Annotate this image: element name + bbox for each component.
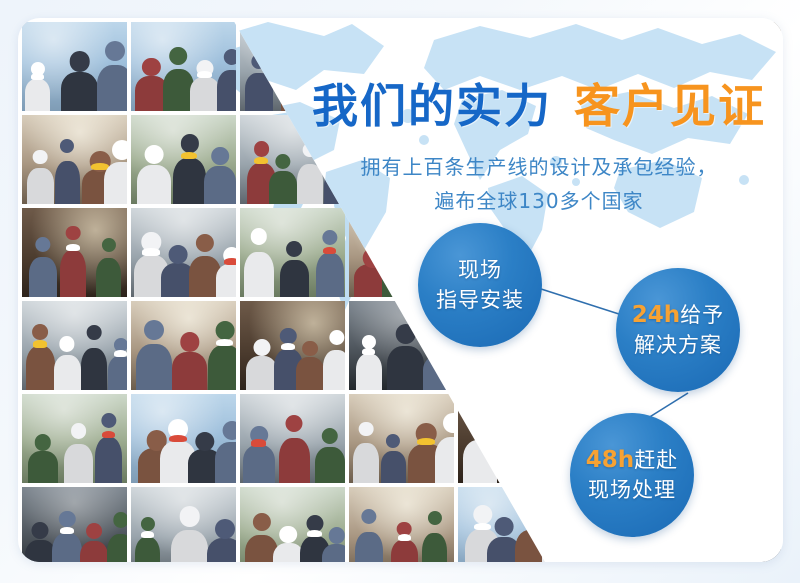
bubble-1-line-2: 指导安装 (436, 285, 524, 315)
hard-hat-icon (66, 244, 79, 251)
photo-people (240, 428, 345, 483)
bubble-3-line-2: 现场处理 (588, 475, 676, 505)
photo-tile (22, 487, 127, 562)
photo-tile (131, 208, 236, 297)
photo-people (240, 521, 345, 562)
photo-people (131, 335, 236, 390)
bubble-3-highlight: 48h (586, 447, 634, 473)
photo-tile (131, 115, 236, 204)
photo-people (349, 428, 454, 483)
photo-people (131, 428, 236, 483)
photo-tile (22, 394, 127, 483)
photo-tile (131, 301, 236, 390)
hard-hat-icon (398, 534, 411, 541)
hard-hat-icon (102, 431, 116, 438)
photo-tile (22, 208, 127, 297)
photo-people (240, 242, 345, 297)
hard-hat-icon (362, 348, 375, 355)
photo-people (131, 242, 236, 297)
photo-people (131, 149, 236, 204)
photo-people (22, 149, 127, 204)
hard-hat-icon (197, 71, 212, 78)
bubble-2-line-2: 解决方案 (634, 330, 722, 360)
photo-tile (22, 115, 127, 204)
photo-people (131, 521, 236, 562)
banner-stage: 我们的实力客户见证 拥有上百条生产线的设计及承包经验， 遍布全球130多个国家 … (0, 0, 800, 583)
photo-tile (131, 394, 236, 483)
hard-hat-icon (216, 339, 233, 346)
hard-hat-icon (169, 435, 187, 442)
hard-hat-icon (31, 73, 44, 80)
photo-tile (131, 487, 236, 562)
photo-tile (22, 22, 127, 111)
hard-hat-icon (281, 343, 296, 350)
hard-hat-icon (307, 530, 322, 537)
photo-people (22, 242, 127, 297)
hard-hat-icon (417, 438, 435, 445)
bubble-2-highlight: 24h (632, 302, 680, 328)
photo-tile (240, 301, 345, 390)
hard-hat-icon (60, 527, 75, 534)
hard-hat-icon (474, 523, 491, 530)
photo-tile (22, 301, 127, 390)
hard-hat-icon (251, 439, 267, 446)
bubble-24h-solution[interactable]: 24h给予 解决方案 (616, 268, 740, 392)
hard-hat-icon (141, 531, 154, 538)
hard-hat-icon (142, 248, 159, 255)
bubble-3-line-1-rest: 赶赴 (634, 448, 678, 472)
photo-people (22, 56, 127, 111)
bubble-2-line-1-rest: 给予 (680, 303, 724, 327)
subtitle-line-1: 拥有上百条生产线的设计及承包经验， (304, 150, 774, 184)
bubble-onsite-install[interactable]: 现场 指导安装 (418, 223, 542, 347)
photo-tile (131, 22, 236, 111)
hard-hat-icon (254, 157, 268, 164)
hard-hat-icon (33, 340, 47, 347)
bubble-48h-onsite[interactable]: 48h赶赴 现场处理 (570, 413, 694, 537)
hard-hat-icon (181, 152, 197, 159)
subtitle: 拥有上百条生产线的设计及承包经验， 遍布全球130多个国家 (304, 150, 774, 218)
hard-hat-icon (114, 350, 127, 357)
photo-tile (349, 394, 454, 483)
headline-orange-text: 客户见证 (574, 79, 766, 133)
photo-tile (240, 394, 345, 483)
photo-people (131, 56, 236, 111)
photo-people (349, 521, 454, 562)
photo-tile (349, 487, 454, 562)
photo-people (22, 521, 127, 562)
photo-people (22, 428, 127, 483)
bubble-3-line-1: 48h赶赴 (586, 445, 678, 475)
hard-hat-icon (323, 247, 337, 254)
photo-tile (240, 208, 345, 297)
photo-people (240, 335, 345, 390)
page-title: 我们的实力客户见证 (304, 70, 774, 136)
bubble-1-line-1: 现场 (458, 255, 502, 285)
headline-blue-text: 我们的实力 (312, 79, 552, 133)
photo-tile (240, 487, 345, 562)
bubble-2-line-1: 24h给予 (632, 300, 724, 330)
photo-people (22, 335, 127, 390)
subtitle-line-2: 遍布全球130多个国家 (304, 184, 774, 218)
hard-hat-icon (224, 258, 236, 265)
